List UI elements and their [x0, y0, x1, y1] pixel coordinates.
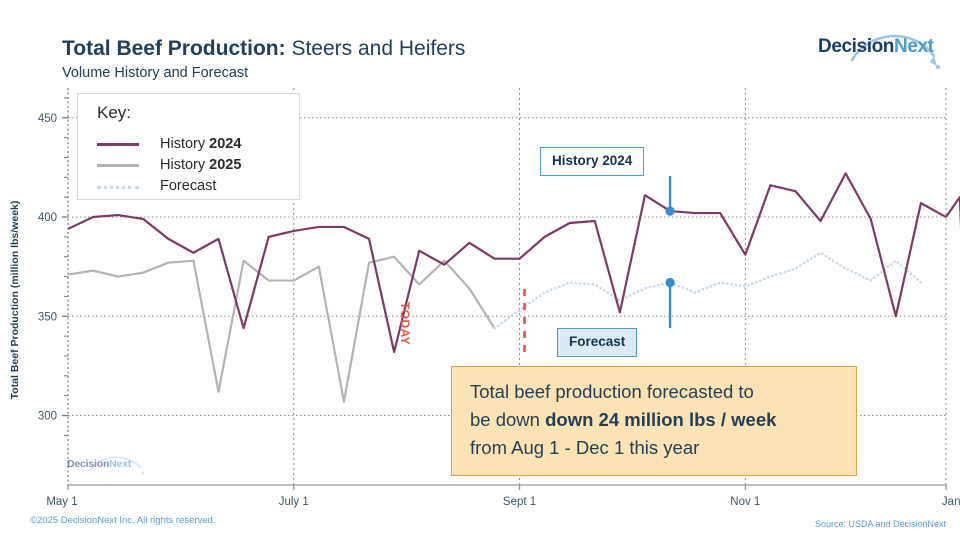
annotation-line-1: Total beef production forecasted to: [470, 378, 840, 406]
series-line-history-2024-tail: [946, 197, 960, 467]
legend-item-label: History 2025: [160, 157, 241, 173]
y-tick-label: 300: [38, 411, 57, 423]
watermark-word-next: Next: [109, 458, 131, 470]
series-line-history-2025: [68, 257, 494, 402]
annotation-line-2: be down down 24 million lbs / week: [470, 406, 840, 434]
x-tick-label: May 1: [46, 496, 77, 508]
chart-page: Total Beef Production: Steers and Heifer…: [0, 0, 960, 540]
series-line-history-2024: [68, 173, 946, 352]
y-tick-label: 450: [38, 113, 57, 125]
y-axis-title: Total Beef Production (million lbs/week): [9, 201, 21, 400]
plot-watermark: DecisionNext: [65, 452, 151, 476]
callout-history-2024[interactable]: History 2024: [540, 147, 644, 176]
annotation-line-3: from Aug 1 - Dec 1 this year: [470, 434, 840, 462]
legend-item-2[interactable]: History 2025: [97, 155, 287, 175]
y-tick-label: 400: [38, 212, 57, 224]
legend-item-label: History 2024: [160, 136, 241, 152]
legend-title: Key:: [97, 103, 131, 123]
footer-copyright: ©2025 DecisionNext Inc. All rights reser…: [30, 515, 215, 526]
today-label: TODAY: [398, 302, 412, 345]
x-tick-label: Jan 1: [942, 496, 960, 508]
y-tick-labels: 300350400450: [38, 113, 57, 423]
series-line-forecast: [494, 253, 920, 328]
legend-items: History 2024History 2025Forecast: [97, 134, 287, 197]
legend-swatch-icon: [97, 159, 139, 171]
annotation-line-2-pre: be down: [470, 409, 545, 430]
legend-item-3[interactable]: Forecast: [97, 176, 287, 196]
y-axis: [62, 88, 68, 485]
watermark-word-decision: Decision: [67, 458, 109, 470]
x-tick-labels: May 1July 1Sept 1Nov 1Jan 1: [46, 496, 960, 508]
legend-item-label: Forecast: [160, 178, 216, 194]
watermark-wordmark: DecisionNext: [67, 458, 131, 470]
callout-forecast[interactable]: Forecast: [557, 328, 637, 357]
legend-item-1[interactable]: History 2024: [97, 134, 287, 154]
footer-source: Source: USDA and DecisionNext: [815, 519, 946, 529]
x-axis: [68, 485, 946, 490]
x-tick-label: Nov 1: [730, 496, 760, 508]
annotation-line-2-bold: down 24 million lbs / week: [545, 409, 776, 430]
y-tick-label: 350: [38, 311, 57, 323]
x-tick-label: Sept 1: [503, 496, 536, 508]
annotation-callout: Total beef production forecasted to be d…: [451, 366, 857, 476]
legend-swatch-icon: [97, 180, 139, 192]
x-tick-label: July 1: [279, 496, 309, 508]
legend: Key: History 2024History 2025Forecast: [77, 93, 300, 200]
callout-markers: [665, 176, 674, 328]
legend-swatch-icon: [97, 138, 139, 150]
